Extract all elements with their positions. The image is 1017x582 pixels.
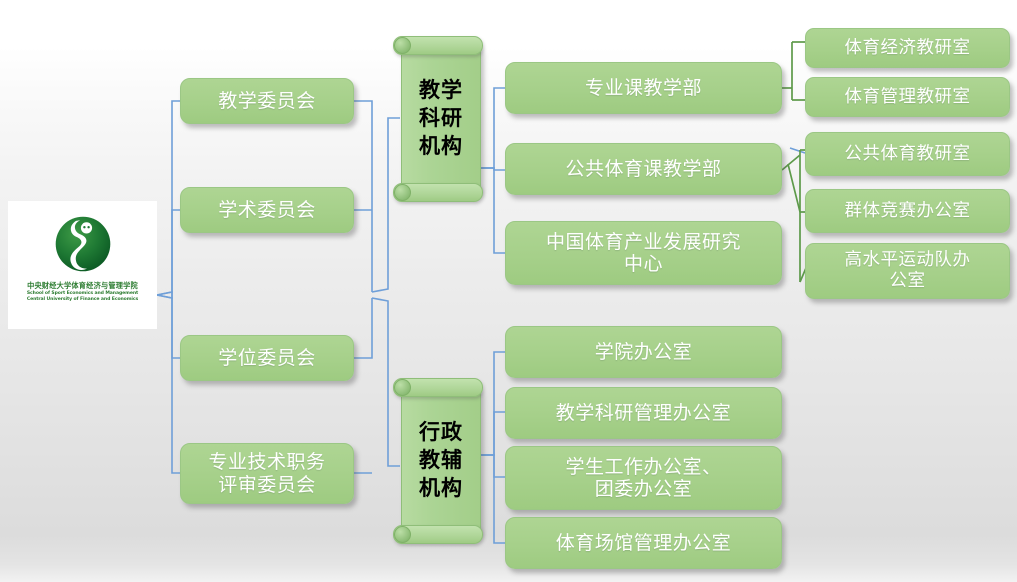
node-teaching-research-admin-office[interactable]: 教学科研管理办公室 (505, 387, 782, 439)
scroll-knob-top-icon (394, 37, 411, 54)
logo-english-line-2: Central University of Finance and Econom… (27, 297, 138, 303)
node-china-sports-industry-research-center[interactable]: 中国体育产业发展研究 中心 (505, 221, 782, 285)
globe-swoosh-logo-icon (48, 209, 118, 279)
node-student-affairs-and-youth-league-office[interactable]: 学生工作办公室、 团委办公室 (505, 446, 782, 510)
node-major-course-teaching-dept[interactable]: 专业课教学部 (505, 62, 782, 114)
branch-teaching-research-label: 教学 科研 机构 (401, 53, 481, 185)
node-college-office[interactable]: 学院办公室 (505, 326, 782, 378)
org-chart-canvas: 中央财经大学体育经济与管理学院 School of Sport Economic… (0, 0, 1017, 582)
node-public-pe-section[interactable]: 公共体育教研室 (805, 132, 1010, 176)
node-sport-management-section[interactable]: 体育管理教研室 (805, 77, 1010, 117)
node-academic-committee[interactable]: 学术委员会 (180, 187, 354, 233)
branch-teaching-research[interactable]: 教学 科研 机构 (393, 36, 481, 202)
branch-administrative-support-label: 行政 教辅 机构 (401, 395, 481, 527)
logo-chinese-title: 中央财经大学体育经济与管理学院 (27, 281, 138, 292)
node-high-level-sports-team-office[interactable]: 高水平运动队办 公室 (805, 243, 1010, 299)
scroll-knob-bottom-icon (394, 184, 411, 201)
scroll-knob-top-icon (394, 379, 411, 396)
node-sports-venue-management-office[interactable]: 体育场馆管理办公室 (505, 517, 782, 569)
scroll-knob-bottom-icon (394, 526, 411, 543)
institution-logo-card: 中央财经大学体育经济与管理学院 School of Sport Economic… (8, 201, 157, 329)
node-teaching-committee[interactable]: 教学委员会 (180, 78, 354, 124)
node-public-pe-course-teaching-dept[interactable]: 公共体育课教学部 (505, 143, 782, 195)
node-sport-economics-section[interactable]: 体育经济教研室 (805, 28, 1010, 68)
node-mass-sports-competition-office[interactable]: 群体竞赛办公室 (805, 189, 1010, 233)
node-professional-title-review-committee[interactable]: 专业技术职务 评审委员会 (180, 443, 354, 504)
branch-administrative-support[interactable]: 行政 教辅 机构 (393, 378, 481, 544)
node-degree-committee[interactable]: 学位委员会 (180, 335, 354, 381)
